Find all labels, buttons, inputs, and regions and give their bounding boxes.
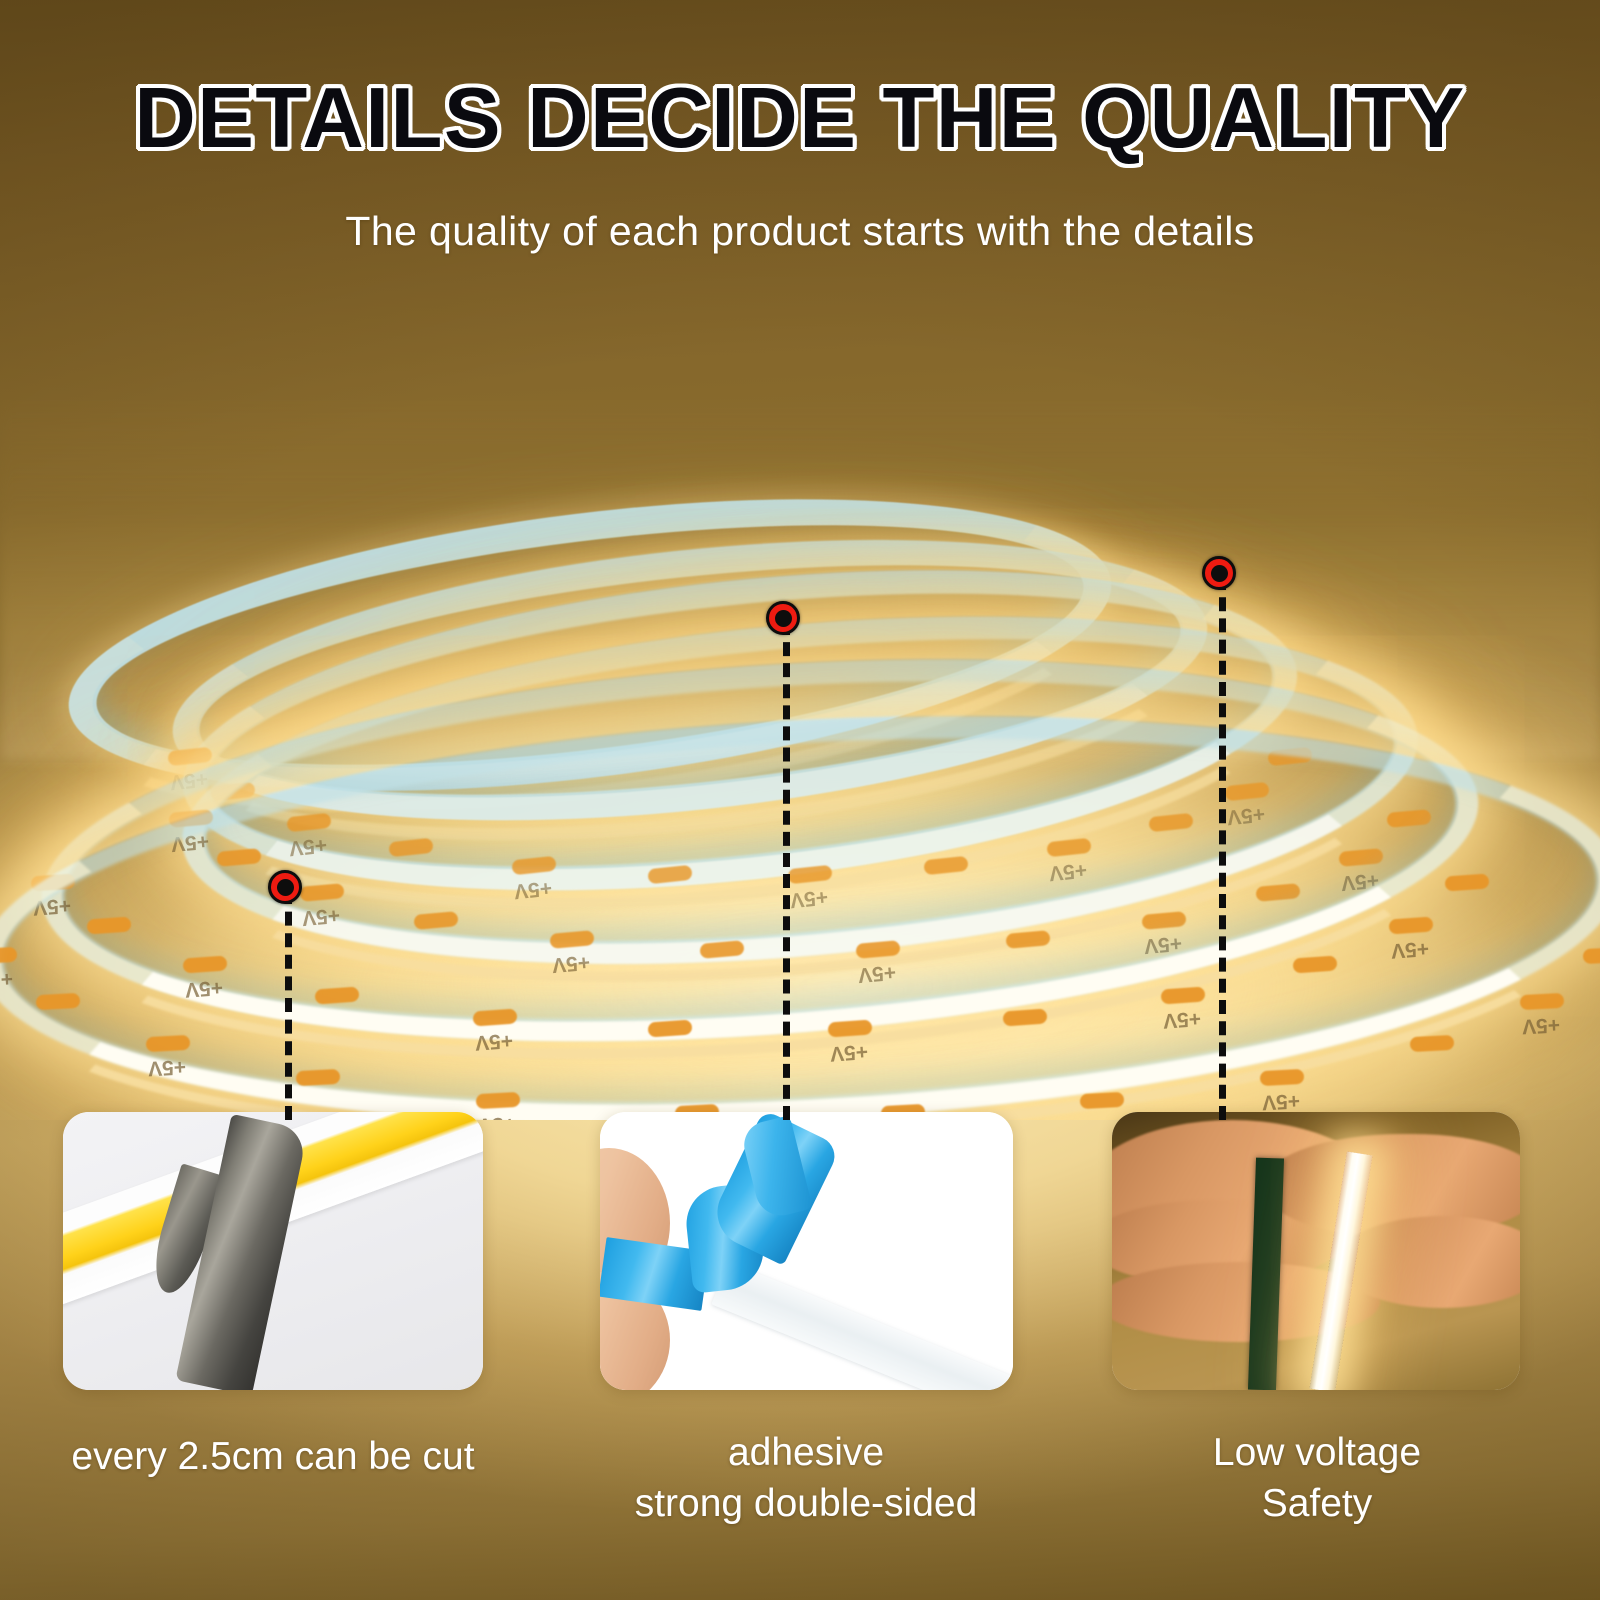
led-strip-cut-pad: [476, 1092, 521, 1109]
led-strip-voltage-marking: +5V: [170, 829, 210, 856]
led-strip-cut-pad: [30, 873, 75, 891]
clear-strip: [711, 1262, 1013, 1390]
led-strip-voltage-marking: +5V: [1340, 868, 1380, 895]
caption-line: strong double-sided: [566, 1479, 1046, 1530]
led-strip-cut-pad: [146, 1035, 191, 1052]
led-strip-voltage-marking: +5V: [1226, 801, 1266, 829]
marker-cut[interactable]: [268, 870, 302, 904]
caption-line: Safety: [1082, 1479, 1552, 1530]
led-strip-cut-pad: [1409, 1035, 1454, 1052]
led-strip-cut-pad: [296, 1068, 341, 1085]
led-strip-cut-pad: [647, 1019, 692, 1037]
led-strip-voltage-marking: +5V: [32, 893, 72, 920]
header: DETAILS DECIDE THE QUALITY The quality o…: [0, 0, 1600, 255]
led-strip-cut-pad: [1161, 986, 1206, 1004]
marker-cut-leader-line: [285, 890, 292, 1120]
caption-line: every 2.5cm can be cut: [23, 1432, 523, 1483]
led-strip-cut-pad: [1520, 993, 1565, 1010]
led-strip-cut-pad: [1079, 1092, 1124, 1109]
feature-photo-scissors-cutting-led-strip: +5V: [63, 1112, 483, 1390]
led-strip-voltage-marking: +5V: [513, 875, 553, 903]
page-title: DETAILS DECIDE THE QUALITY: [0, 78, 1600, 160]
feature-photo-hand-holding-lit-strip: [1112, 1112, 1520, 1390]
led-strip-voltage-marking: +5V: [1391, 936, 1431, 963]
led-strip-voltage-marking: +5V: [474, 1027, 514, 1054]
caption-line: adhesive: [566, 1428, 1046, 1479]
marker-voltage-leader-line: [1219, 576, 1226, 1120]
marker-voltage[interactable]: [1202, 556, 1236, 590]
led-strip-voltage-marking: +5V: [1048, 857, 1088, 885]
led-strip-voltage-marking: +5V: [0, 966, 13, 992]
feature-card-adhesive[interactable]: [600, 1112, 1013, 1390]
led-strip-voltage-marking: +5V: [1521, 1012, 1560, 1038]
led-strip-voltage-marking: +5V: [1162, 1005, 1202, 1032]
led-strip-cut-pad: [183, 955, 228, 973]
led-strip-cut-pad: [1583, 947, 1600, 964]
feature-caption-voltage: Low voltage Safety: [1082, 1428, 1552, 1529]
marker-adhesive-leader-line: [783, 621, 790, 1120]
led-strip-voltage-marking: +5V: [478, 1111, 517, 1120]
page-subtitle: The quality of each product starts with …: [0, 208, 1600, 255]
led-strip-cut-pad: [828, 1019, 873, 1037]
feature-photo-peeling-blue-adhesive-backing: [600, 1112, 1013, 1390]
marker-adhesive[interactable]: [766, 601, 800, 635]
led-strip-voltage-marking: +5V: [829, 1039, 869, 1066]
led-strip-voltage-marking: +5V: [551, 950, 591, 977]
led-strip-cut-pad: [413, 911, 458, 930]
led-strip-voltage-marking: +5V: [287, 832, 327, 860]
led-strip-voltage-marking: +5V: [301, 902, 341, 929]
hero-photo-led-reel: +5V+5V+5V+5V+5V+5V+5V+5V+5V+5V+5V+5V+5V+…: [0, 400, 1600, 1120]
led-strip-voltage-marking: +5V: [857, 960, 897, 987]
led-strip-voltage-marking: +5V: [148, 1054, 187, 1080]
led-strip-voltage-marking: +5V: [184, 974, 224, 1001]
led-strip-voltage-marking: +5V: [1143, 930, 1183, 957]
led-strip-cut-pad: [1292, 955, 1337, 973]
led-strip-cut-pad: [472, 1008, 517, 1026]
poster-canvas: +5V+5V+5V+5V+5V+5V+5V+5V+5V+5V+5V+5V+5V+…: [0, 0, 1600, 1600]
led-strip-cut-pad: [314, 986, 359, 1004]
led-strip-cut-pad: [1003, 1008, 1048, 1026]
led-strip-voltage-marking: +5V: [789, 884, 829, 912]
feature-card-voltage[interactable]: [1112, 1112, 1520, 1390]
led-strip-voltage-marking: +5V: [169, 766, 209, 794]
led-strip-voltage-marking: +5V: [1261, 1088, 1300, 1114]
feature-card-cut[interactable]: +5V: [63, 1112, 483, 1390]
led-strip-cut-pad: [1260, 1068, 1305, 1085]
caption-line: Low voltage: [1082, 1428, 1552, 1479]
feature-caption-cut: every 2.5cm can be cut: [23, 1432, 523, 1483]
feature-caption-adhesive: adhesive strong double-sided: [566, 1428, 1046, 1529]
led-strip-cut-pad: [1445, 873, 1490, 891]
led-strip-cut-pad: [36, 993, 81, 1010]
